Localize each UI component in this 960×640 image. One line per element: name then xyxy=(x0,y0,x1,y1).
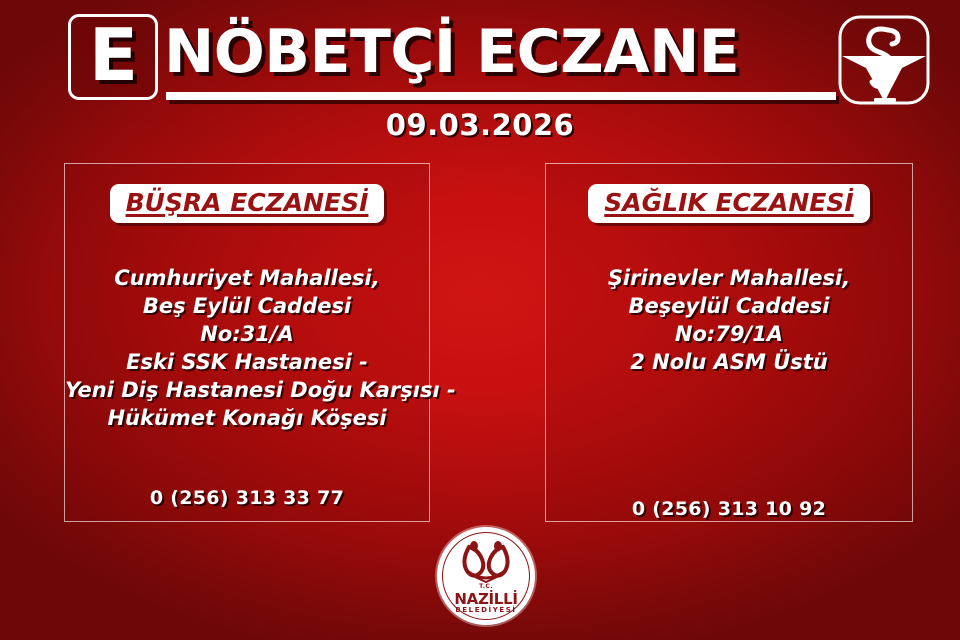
address-line: Beşeylül Caddesi xyxy=(546,292,912,320)
address-line: Eski SSK Hastanesi - xyxy=(65,348,429,376)
initial-letter-box: E xyxy=(68,14,158,100)
pharmacy-name: SAĞLIK ECZANESİ xyxy=(604,188,853,217)
poster-header: E NÖBETÇİ ECZANE xyxy=(0,0,960,112)
muni-subtitle-label: BELEDİYESİ xyxy=(437,606,535,614)
address-line: 2 Nolu ASM Üstü xyxy=(546,348,912,376)
pharmacy-address: Şirinevler Mahallesi, Beşeylül Caddesi N… xyxy=(546,264,912,376)
title-underline xyxy=(166,92,836,100)
pharmacy-phone: 0 (256) 313 33 77 xyxy=(65,487,429,509)
address-line: No:79/1A xyxy=(546,320,912,348)
pharmacy-name-badge-wrap: SAĞLIK ECZANESİ xyxy=(546,184,912,223)
duty-date: 09.03.2026 xyxy=(0,108,960,142)
address-line: No:31/A xyxy=(65,320,429,348)
title-row: E NÖBETÇİ ECZANE xyxy=(68,14,739,100)
address-line: Hükümet Konağı Köşesi xyxy=(65,404,429,432)
address-line: Beş Eylül Caddesi xyxy=(65,292,429,320)
pharmacy-name-badge: SAĞLIK ECZANESİ xyxy=(588,184,869,223)
pharmacy-name-badge-wrap: BÜŞRA ECZANESİ xyxy=(65,184,429,223)
pharmacy-name-badge: BÜŞRA ECZANESİ xyxy=(110,184,385,223)
nobetci-eczane-poster: E NÖBETÇİ ECZANE 09.03.2026 BÜŞRA EC xyxy=(0,0,960,640)
page-title: NÖBETÇİ ECZANE xyxy=(164,20,739,84)
title-wrap: NÖBETÇİ ECZANE xyxy=(164,20,739,84)
pharmacy-cards: BÜŞRA ECZANESİ Cumhuriyet Mahallesi, Beş… xyxy=(0,163,960,522)
bowl-of-hygieia-icon xyxy=(836,14,932,106)
initial-letter: E xyxy=(89,19,137,91)
address-line: Yeni Diş Hastanesi Doğu Karşısı - xyxy=(65,376,429,404)
nazilli-municipality-logo-icon: T.C. NAZİLLİ BELEDİYESİ xyxy=(437,527,535,625)
pharmacy-card: SAĞLIK ECZANESİ Şirinevler Mahallesi, Be… xyxy=(545,163,913,522)
pharmacy-name: BÜŞRA ECZANESİ xyxy=(126,188,369,217)
address-line: Cumhuriyet Mahallesi, xyxy=(65,264,429,292)
address-line: Şirinevler Mahallesi, xyxy=(546,264,912,292)
pharmacy-address: Cumhuriyet Mahallesi, Beş Eylül Caddesi … xyxy=(65,264,429,432)
muni-tc-label: T.C. xyxy=(437,583,535,590)
pharmacy-phone: 0 (256) 313 10 92 xyxy=(546,498,912,520)
pharmacy-card: BÜŞRA ECZANESİ Cumhuriyet Mahallesi, Beş… xyxy=(64,163,430,522)
